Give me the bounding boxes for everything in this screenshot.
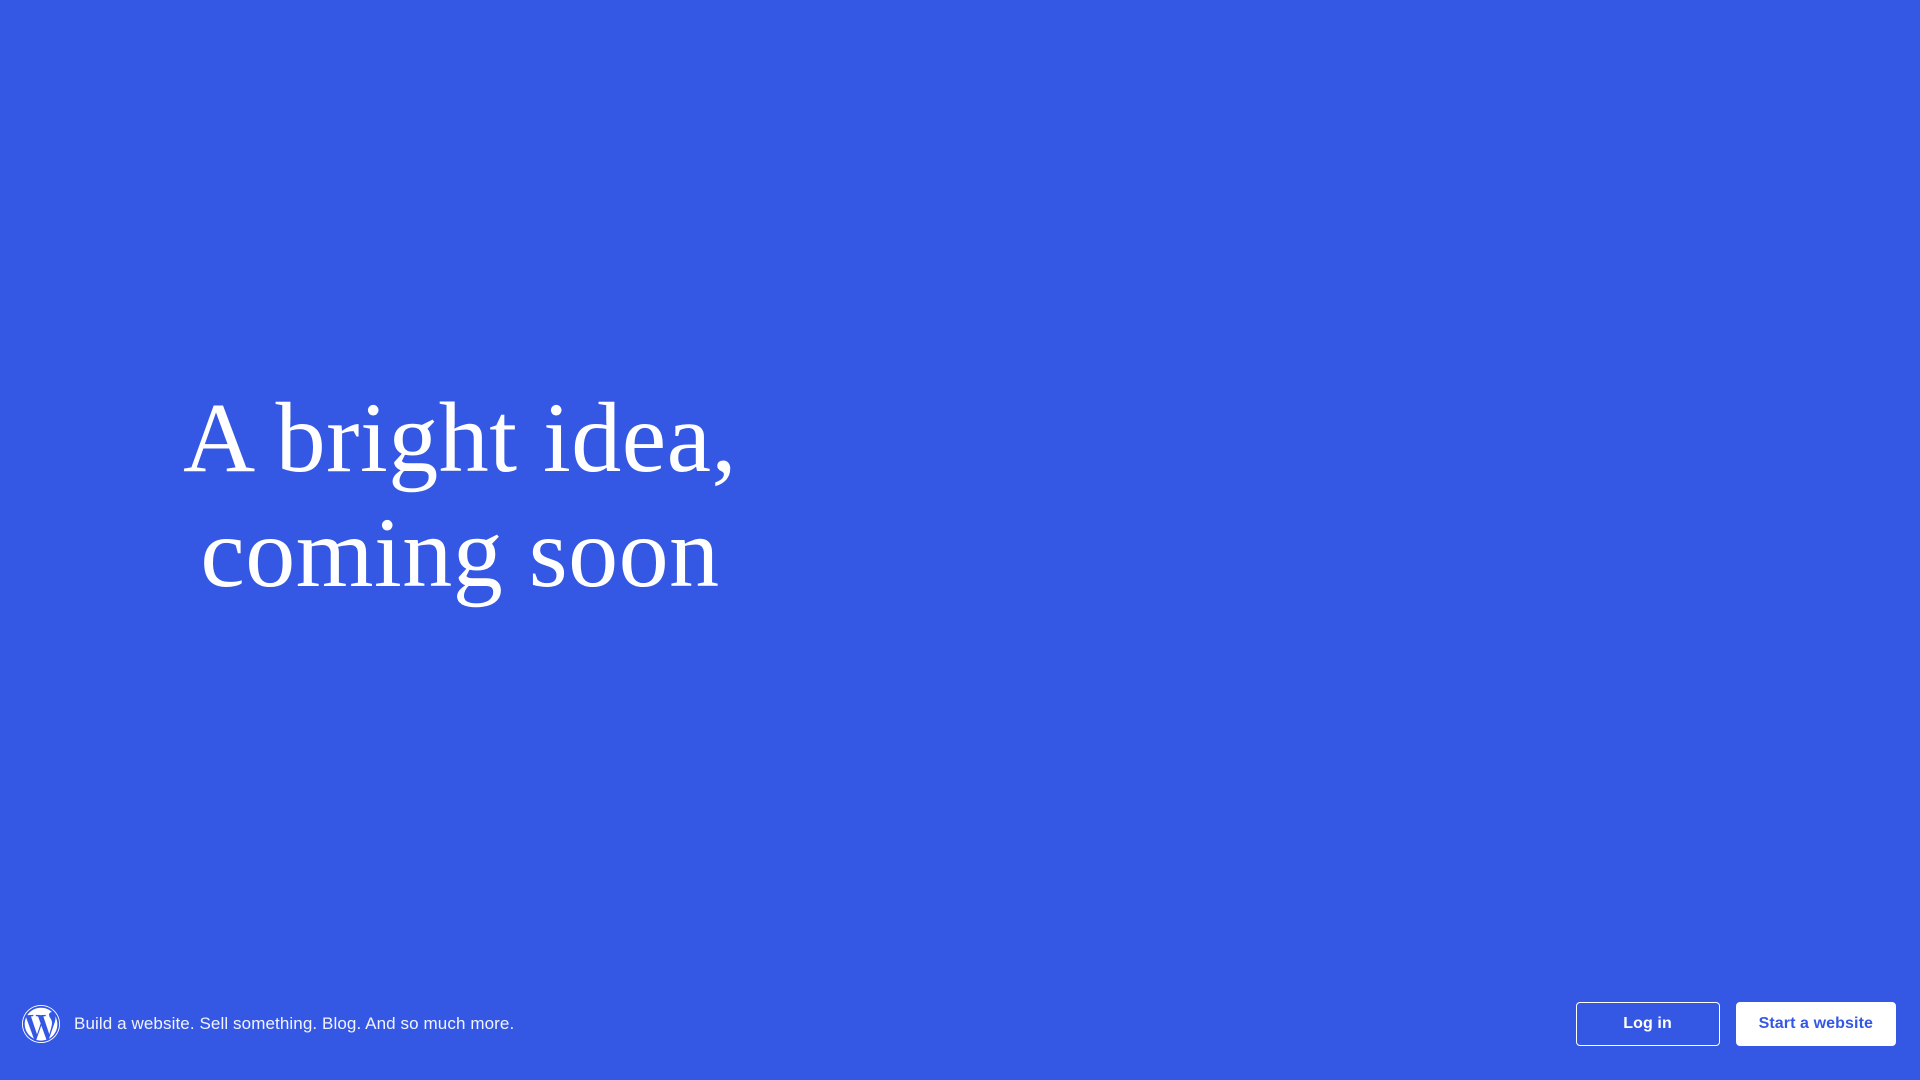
footer-actions: Log in Start a website [1576,1002,1896,1046]
footer-bar: Build a website. Sell something. Blog. A… [0,968,1920,1080]
log-in-button[interactable]: Log in [1576,1002,1720,1046]
footer-tagline: Build a website. Sell something. Blog. A… [74,1014,514,1034]
start-a-website-button[interactable]: Start a website [1736,1002,1896,1046]
hero-section: A bright idea, coming soon [0,0,1920,1080]
wordpress-logo-icon [22,1005,60,1043]
page-title: A bright idea, coming soon [150,380,770,610]
footer-branding: Build a website. Sell something. Blog. A… [22,1005,514,1043]
